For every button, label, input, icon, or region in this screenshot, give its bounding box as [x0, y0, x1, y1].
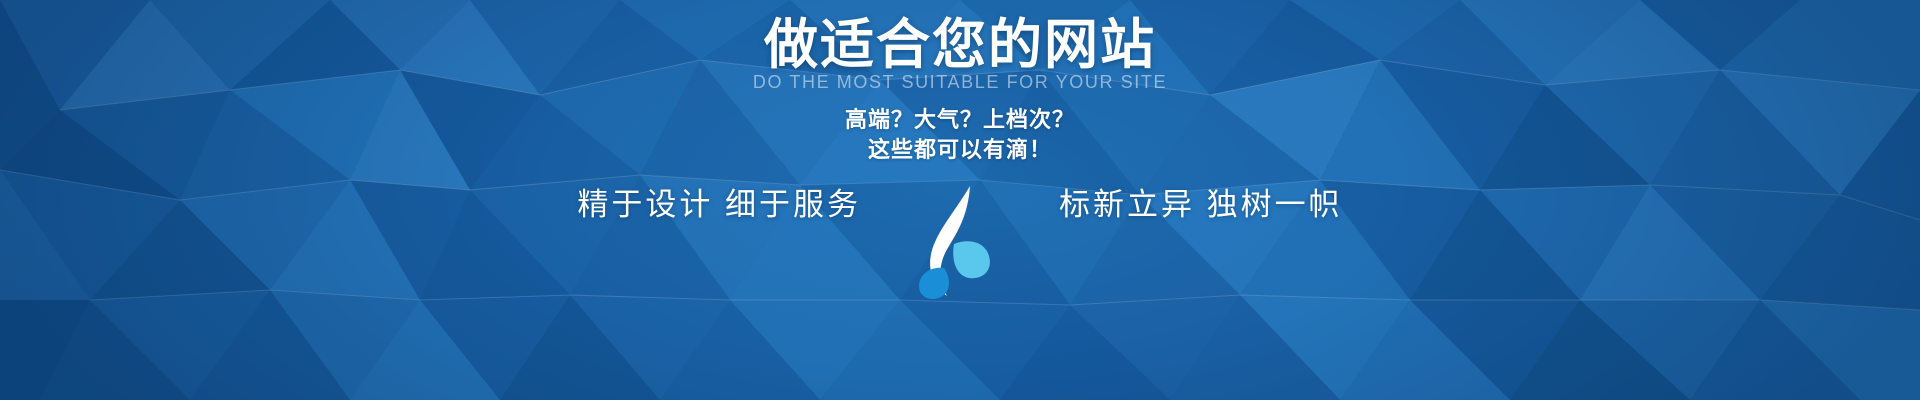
bottom-row: 精于设计 细于服务 标新立异 独树一帜 — [0, 182, 1920, 302]
tagline-left: 精于设计 细于服务 — [561, 182, 913, 225]
slogan-line-2: 这些都可以有滴！ — [0, 135, 1920, 165]
banner-content: 做适合您的网站 DO THE MOST SUITABLE FOR YOUR SI… — [0, 0, 1920, 400]
logo-leaf-dark — [919, 268, 949, 299]
subtitle-english: DO THE MOST SUITABLE FOR YOUR SITE — [0, 70, 1920, 94]
page-title: 做适合您的网站 — [0, 13, 1920, 77]
logo-leaf-light — [953, 241, 990, 278]
slogan-block: 高端？大气？上档次？ 这些都可以有滴！ — [0, 105, 1920, 165]
slogan-line-1: 高端？大气？上档次？ — [0, 105, 1920, 135]
hero-banner: 做适合您的网站 DO THE MOST SUITABLE FOR YOUR SI… — [0, 0, 1920, 400]
tagline-right: 标新立异 独树一帜 — [1005, 182, 1359, 225]
brand-logo-mark — [913, 182, 1005, 300]
